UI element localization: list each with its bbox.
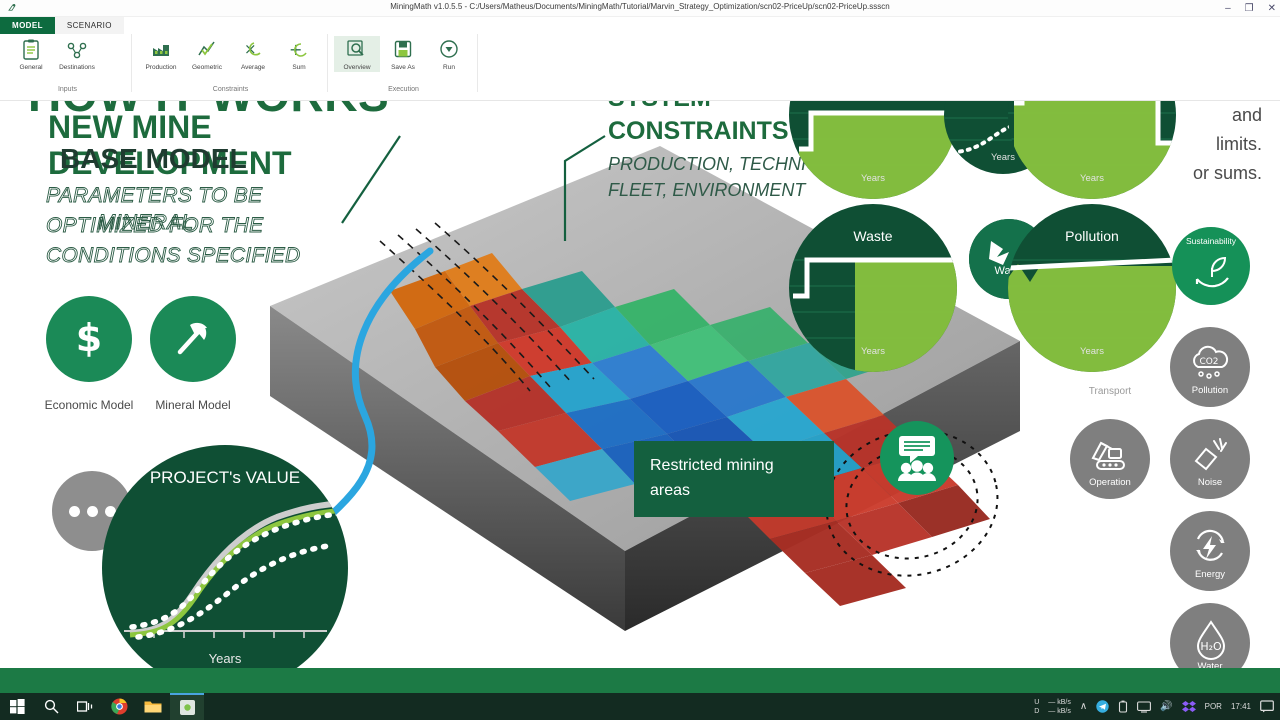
taskbar: U D — kB/s — kB/s ∧ bbox=[0, 693, 1280, 720]
leader-line-base-model bbox=[290, 131, 410, 261]
language-indicator[interactable]: POR bbox=[1205, 702, 1222, 711]
ribbon-group-inputs: General Destinations bbox=[4, 34, 132, 92]
chart-check-icon bbox=[184, 39, 230, 63]
ribbon-button-sum-label: Sum bbox=[276, 63, 322, 72]
green-band bbox=[0, 668, 1280, 693]
impact-circle-noise[interactable]: Noise bbox=[1170, 419, 1250, 499]
taskbar-start-button[interactable] bbox=[0, 693, 34, 720]
minimize-button[interactable]: – bbox=[1225, 4, 1231, 14]
ribbon-body: General Destinations bbox=[0, 34, 1280, 101]
tab-scenario[interactable]: SCENARIO bbox=[55, 17, 124, 34]
taskbar-search-button[interactable] bbox=[34, 693, 68, 720]
megaphone-icon bbox=[1188, 435, 1232, 475]
chart-circle-pollution-axis: Years bbox=[1008, 346, 1176, 357]
ribbon-button-average[interactable]: × Average bbox=[230, 36, 276, 72]
mineral-model-caption: Mineral Model bbox=[130, 396, 256, 415]
network-up-label: U bbox=[1034, 698, 1039, 707]
dropbox-icon[interactable] bbox=[1182, 700, 1196, 713]
mineral-model-circle[interactable] bbox=[150, 296, 236, 382]
flow-icon bbox=[54, 39, 100, 63]
pickaxe-icon bbox=[170, 316, 216, 362]
slide-overlay-canvas: THE OPTIMIZATION ENGINE HOW IT WORKS NEW… bbox=[0, 101, 1280, 693]
battery-icon[interactable] bbox=[1118, 700, 1128, 713]
ribbon-button-save-as[interactable]: Save As bbox=[380, 36, 426, 72]
svg-text:H₂O: H₂O bbox=[1200, 640, 1222, 653]
impact-circle-energy-label: Energy bbox=[1170, 569, 1250, 580]
network-speed-values: — kB/s — kB/s bbox=[1048, 698, 1071, 716]
taskbar-chrome-button[interactable] bbox=[102, 693, 136, 720]
chart-circle-waste-title: Waste bbox=[789, 228, 957, 244]
ribbon-button-production-label: Production bbox=[138, 63, 184, 72]
ribbon-button-destinations-label: Destinations bbox=[54, 63, 100, 72]
task-view-icon bbox=[77, 700, 94, 714]
close-button[interactable]: ✕ bbox=[1268, 4, 1276, 14]
ribbon-button-general[interactable]: General bbox=[8, 36, 54, 72]
svg-text:CO2: CO2 bbox=[1199, 357, 1218, 367]
co2-cloud-icon: CO2 bbox=[1188, 343, 1232, 383]
sum-icon: + bbox=[276, 39, 322, 63]
system-tray[interactable]: U D — kB/s — kB/s ∧ bbox=[1034, 693, 1274, 720]
ribbon-group-execution: Overview Save As bbox=[330, 34, 478, 92]
taskbar-items[interactable] bbox=[0, 693, 204, 720]
annotation-swoosh bbox=[310, 241, 480, 541]
restricted-mining-areas-label: Restricted mining areas bbox=[650, 457, 774, 499]
project-value-axis-label: Years bbox=[102, 651, 348, 666]
overlay-right-text-fragment: and limits. or sums. bbox=[1193, 101, 1262, 188]
economic-model-circle[interactable]: $ bbox=[46, 296, 132, 382]
title-bar: MiningMath v1.0.5.5 - C:/Users/Matheus/D… bbox=[0, 0, 1280, 17]
play-icon bbox=[426, 39, 472, 63]
magnifier-icon bbox=[334, 39, 380, 63]
dot-1 bbox=[69, 506, 80, 517]
impact-circle-noise-label: Noise bbox=[1170, 477, 1250, 488]
clock[interactable]: 17:41 bbox=[1231, 702, 1251, 711]
ribbon-group-inputs-label: Inputs bbox=[4, 86, 131, 93]
ribbon: MODEL SCENARIO bbox=[0, 17, 1280, 101]
chart-circle-waste-axis: Years bbox=[789, 346, 957, 357]
overlay-system-constraints: SYSTEM CONSTRAINTS bbox=[608, 101, 789, 148]
tray-chevron-up-icon[interactable]: ∧ bbox=[1080, 701, 1087, 712]
ribbon-button-run-label: Run bbox=[426, 63, 472, 72]
ribbon-button-save-as-label: Save As bbox=[380, 63, 426, 72]
ribbon-button-geometric-label: Geometric bbox=[184, 63, 230, 72]
ribbon-button-production[interactable]: Production bbox=[138, 36, 184, 72]
chart-circle-waste: Waste Years bbox=[789, 204, 957, 372]
notification-icon[interactable] bbox=[1260, 700, 1274, 713]
overlay-base-model: BASE MODEL bbox=[60, 143, 247, 175]
ribbon-group-constraints-label: Constraints bbox=[134, 86, 327, 93]
save-icon bbox=[380, 39, 426, 63]
chart-circle-pollution-title: Pollution bbox=[1008, 228, 1176, 244]
impact-circle-operation[interactable]: Operation bbox=[1070, 419, 1150, 499]
window-title: MiningMath v1.0.5.5 - C:/Users/Matheus/D… bbox=[0, 2, 1280, 11]
dollar-icon: $ bbox=[67, 317, 111, 361]
taskbar-file-explorer-button[interactable] bbox=[136, 693, 170, 720]
restore-button[interactable]: ❐ bbox=[1245, 4, 1254, 14]
ribbon-group-execution-label: Execution bbox=[330, 86, 477, 93]
project-value-title: PROJECT's VALUE bbox=[102, 467, 348, 489]
ribbon-button-overview-label: Overview bbox=[334, 63, 380, 72]
ribbon-button-run[interactable]: Run bbox=[426, 36, 472, 72]
energy-bolt-icon bbox=[1189, 527, 1231, 567]
water-drop-icon: H₂O bbox=[1192, 618, 1230, 662]
chart-circle-pollution: Pollution Years bbox=[1008, 204, 1176, 372]
clipboard-icon bbox=[8, 39, 54, 63]
app-icon bbox=[180, 700, 195, 715]
taskbar-task-view-button[interactable] bbox=[68, 693, 102, 720]
stakeholders-icon bbox=[880, 421, 954, 495]
average-icon: × bbox=[230, 39, 276, 63]
telegram-icon[interactable] bbox=[1096, 700, 1109, 713]
project-value-chart: PROJECT's VALUE Years bbox=[102, 445, 348, 691]
ribbon-group-constraints: Production Geometric bbox=[134, 34, 328, 92]
sustainability-circle[interactable]: Sustainability bbox=[1172, 227, 1250, 305]
impact-circle-energy[interactable]: Energy bbox=[1170, 511, 1250, 591]
tab-model[interactable]: MODEL bbox=[0, 17, 55, 34]
network-speed-indicator: U D bbox=[1034, 698, 1039, 716]
impact-circle-co2-pollution[interactable]: CO2 Pollution bbox=[1170, 327, 1250, 407]
network-down-label: D bbox=[1034, 707, 1039, 716]
taskbar-miningmath-button[interactable] bbox=[170, 693, 204, 720]
volume-icon[interactable]: 🔊 bbox=[1160, 701, 1172, 712]
ribbon-tabs[interactable]: MODEL SCENARIO bbox=[0, 17, 124, 34]
overlay-mineral: MINERAL bbox=[98, 211, 193, 235]
ribbon-button-general-label: General bbox=[8, 63, 54, 72]
impact-circle-operation-label: Operation bbox=[1070, 477, 1150, 488]
chrome-icon bbox=[111, 698, 128, 715]
dot-2 bbox=[87, 506, 98, 517]
transport-caption: Transport bbox=[1075, 382, 1145, 401]
factory-icon bbox=[138, 39, 184, 63]
ribbon-button-average-label: Average bbox=[230, 63, 276, 72]
network-down-rate: — kB/s bbox=[1048, 707, 1071, 716]
chart-circle-specification: Specification Years bbox=[1008, 101, 1176, 199]
chart-circle-production: Production Years bbox=[789, 101, 957, 199]
ribbon-button-sum[interactable]: + Sum bbox=[276, 36, 322, 72]
window-controls[interactable]: – ❐ ✕ bbox=[1225, 0, 1276, 17]
windows-icon bbox=[10, 699, 25, 714]
application-window: MiningMath v1.0.5.5 - C:/Users/Matheus/D… bbox=[0, 0, 1280, 720]
folder-icon bbox=[144, 699, 162, 714]
restricted-mining-areas-tag: Restricted mining areas bbox=[634, 441, 834, 517]
plant-hand-icon bbox=[1191, 251, 1233, 293]
ribbon-button-overview[interactable]: Overview bbox=[334, 36, 380, 72]
sustainability-label: Sustainability bbox=[1172, 236, 1250, 246]
excavator-icon bbox=[1087, 436, 1133, 476]
stakeholders-circle[interactable] bbox=[880, 421, 954, 495]
display-icon[interactable] bbox=[1137, 701, 1151, 713]
chart-circle-specification-axis: Years bbox=[1008, 173, 1176, 184]
chart-circle-production-axis: Years bbox=[789, 173, 957, 184]
impact-circle-co2-pollution-label: Pollution bbox=[1170, 385, 1250, 396]
search-icon bbox=[44, 699, 59, 714]
svg-text:$: $ bbox=[76, 317, 102, 360]
ribbon-button-geometric[interactable]: Geometric bbox=[184, 36, 230, 72]
network-up-rate: — kB/s bbox=[1048, 698, 1071, 707]
ribbon-button-destinations[interactable]: Destinations bbox=[54, 36, 100, 72]
